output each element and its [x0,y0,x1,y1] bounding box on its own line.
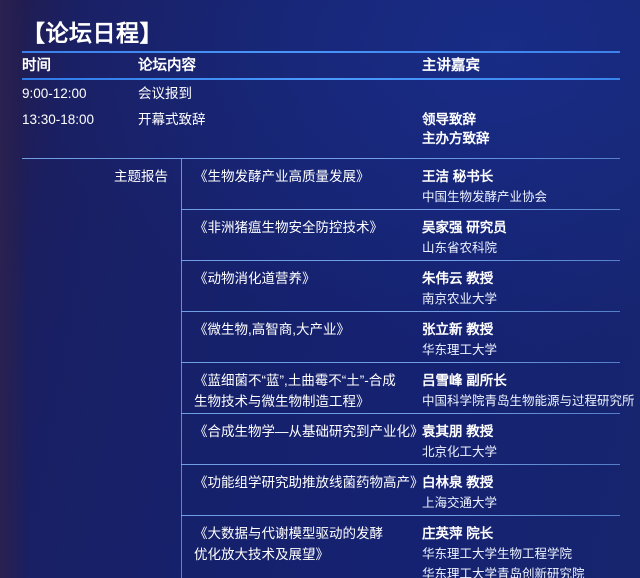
session-row: 《大数据与代谢模型驱动的发酵 优化放大技术及展望》 庄英萍 院长 华东理工大学生… [22,516,620,578]
cell-content-wrap: 开幕式致辞 [126,110,422,129]
cell-time-wrap: 9:00-12:00 [22,84,126,103]
cell-time: 9:00-12:00 [22,84,122,103]
session-title-wrap: 《蓝细菌不“蓝”,土曲霉不“土”-合成 生物技术与微生物制造工程》 [182,363,422,412]
cell-guest-wrap: 领导致辞 主办方致辞 [422,110,620,148]
table-row: 9:00-12:00 会议报到 [22,80,620,107]
session-speaker-wrap: 袁其朋 教授 北京化工大学 [422,414,620,462]
session-category-label-wrap [22,465,182,473]
session-title-line: 《动物消化道营养》 [194,268,422,289]
agenda-table: 时间 论坛内容 主讲嘉宾 9:00-12:00 会议报到 13:30-18:00 [22,53,620,578]
session-speaker-wrap: 吕雪峰 副所长 中国科学院青岛生物能源与过程研究所 [422,363,635,411]
speaker-affiliation: 山东省农科院 [422,238,620,258]
session-title-line: 《微生物,高智商,大产业》 [194,319,422,340]
speaker-affiliation: 华东理工大学青岛创新研究院 [422,564,620,578]
cell-time: 13:30-18:00 [22,110,122,129]
speaker-affiliation: 华东理工大学生物工程学院 [422,544,620,564]
session-category-label: 主题报告 [22,167,168,186]
session-title-line: 生物技术与微生物制造工程》 [194,391,422,412]
speaker-name: 王洁 秘书长 [422,166,620,187]
table-header-row: 时间 论坛内容 主讲嘉宾 [22,53,620,78]
header-cell-time: 时间 [22,56,122,76]
session-speaker-wrap: 白林泉 教授 上海交通大学 [422,465,620,513]
session-speaker-wrap: 王洁 秘书长 中国生物发酵产业协会 [422,159,620,207]
header-cell-guest: 主讲嘉宾 [422,56,620,76]
session-speaker-wrap: 张立新 教授 华东理工大学 [422,312,620,360]
forum-agenda-poster: 【论坛日程】 时间 论坛内容 主讲嘉宾 9:00-12:00 会议报到 [0,0,640,578]
speaker-affiliation: 华东理工大学 [422,340,620,360]
session-category-label-wrap: 主题报告 [22,159,182,186]
header-cell-content-wrap: 论坛内容 [126,56,422,76]
speaker-affiliation: 上海交通大学 [422,493,620,513]
header-cell-content: 论坛内容 [138,56,422,76]
session-speaker-wrap: 朱伟云 教授 南京农业大学 [422,261,620,309]
session-speaker-wrap: 庄英萍 院长 华东理工大学生物工程学院 华东理工大学青岛创新研究院 [422,516,620,578]
speaker-name: 张立新 教授 [422,319,620,340]
session-row: 《动物消化道营养》 朱伟云 教授 南京农业大学 [22,261,620,311]
session-title-wrap: 《动物消化道营养》 [182,261,422,289]
speaker-affiliation: 南京农业大学 [422,289,620,309]
speaker-name: 白林泉 教授 [422,472,620,493]
speaker-name: 朱伟云 教授 [422,268,620,289]
session-category-label-wrap [22,261,182,269]
guest-name: 主办方致辞 [422,129,620,148]
session-row: 《非洲猪瘟生物安全防控技术》 吴家强 研究员 山东省农科院 [22,210,620,260]
session-title-line: 《功能组学研究助推放线菌药物高产》 [194,472,422,493]
speaker-affiliation: 北京化工大学 [422,442,620,462]
session-title-wrap: 《生物发酵产业高质量发展》 [182,159,422,187]
speaker-name: 袁其朋 教授 [422,421,620,442]
session-title-wrap: 《微生物,高智商,大产业》 [182,312,422,340]
table-row: 13:30-18:00 开幕式致辞 领导致辞 主办方致辞 [22,107,620,158]
session-speaker-wrap: 吴家强 研究员 山东省农科院 [422,210,620,258]
cell-content-wrap: 会议报到 [126,84,422,103]
session-title-wrap: 《合成生物学—从基础研究到产业化》 [182,414,422,442]
cell-content: 会议报到 [138,84,422,103]
session-category-label-wrap [22,516,182,524]
session-category-label-wrap [22,210,182,218]
session-title-wrap: 《非洲猪瘟生物安全防控技术》 [182,210,422,238]
speaker-affiliation: 中国生物发酵产业协会 [422,187,620,207]
session-row: 《功能组学研究助推放线菌药物高产》 白林泉 教授 上海交通大学 [22,465,620,515]
session-title-wrap: 《大数据与代谢模型驱动的发酵 优化放大技术及展望》 [182,516,422,565]
session-title-line: 《合成生物学—从基础研究到产业化》 [194,421,422,442]
session-row: 主题报告 《生物发酵产业高质量发展》 王洁 秘书长 中国生物发酵产业协会 [22,159,620,209]
session-category-label-wrap [22,363,182,371]
session-title-line: 优化放大技术及展望》 [194,544,422,565]
session-row: 《蓝细菌不“蓝”,土曲霉不“土”-合成 生物技术与微生物制造工程》 吕雪峰 副所… [22,363,620,413]
session-title-wrap: 《功能组学研究助推放线菌药物高产》 [182,465,422,493]
cell-time-wrap: 13:30-18:00 [22,110,126,129]
speaker-affiliation: 中国科学院青岛生物能源与过程研究所 [422,391,635,411]
page-title-text: 【论坛日程】 [22,18,620,48]
speaker-name: 吴家强 研究员 [422,217,620,238]
session-title-line: 《非洲猪瘟生物安全防控技术》 [194,217,422,238]
cell-content: 开幕式致辞 [138,110,422,129]
keynote-sessions: 主题报告 《生物发酵产业高质量发展》 王洁 秘书长 中国生物发酵产业协会 《非洲… [22,158,620,578]
page-title: 【论坛日程】 [22,18,620,48]
guest-name: 领导致辞 [422,110,620,129]
header-cell-time-wrap: 时间 [22,56,126,76]
speaker-name: 庄英萍 院长 [422,523,620,544]
speaker-name: 吕雪峰 副所长 [422,370,635,391]
session-row: 《合成生物学—从基础研究到产业化》 袁其朋 教授 北京化工大学 [22,414,620,464]
session-category-label-wrap [22,312,182,320]
session-title-line: 《生物发酵产业高质量发展》 [194,166,422,187]
session-row: 《微生物,高智商,大产业》 张立新 教授 华东理工大学 [22,312,620,362]
session-category-label-wrap [22,414,182,422]
header-cell-guest-wrap: 主讲嘉宾 [422,56,620,76]
session-title-line: 《大数据与代谢模型驱动的发酵 [194,523,422,544]
session-title-line: 《蓝细菌不“蓝”,土曲霉不“土”-合成 [194,370,422,391]
